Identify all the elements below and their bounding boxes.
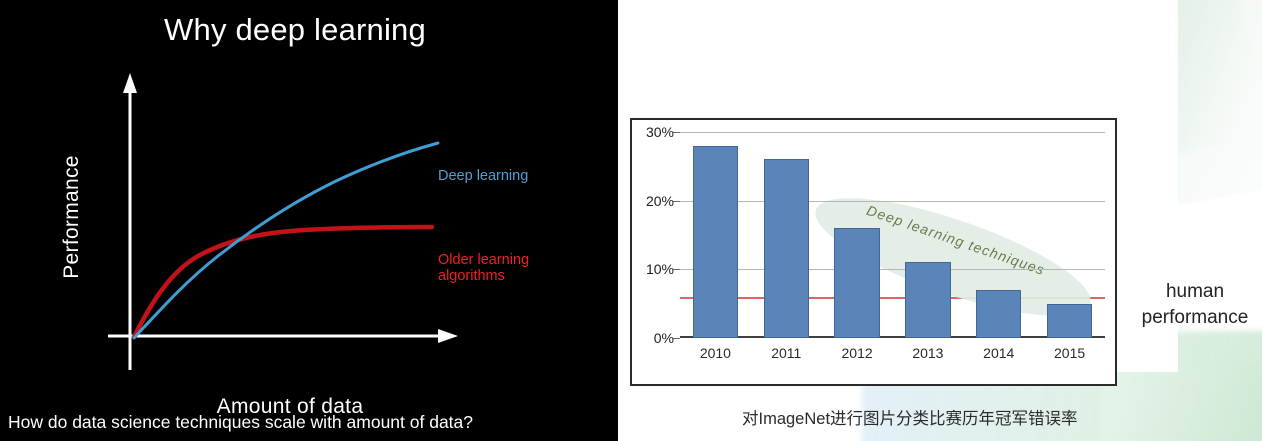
bar-2015: [1047, 304, 1092, 338]
bar-2012: [834, 228, 879, 338]
y-tick-mark: [673, 269, 680, 270]
imagenet-error-rate-bar-chart: Deep learning techniques 0%10%20%30%2010…: [630, 118, 1117, 386]
y-tick-mark: [673, 201, 680, 202]
bar-2013: [905, 262, 950, 338]
bar-2010: [693, 146, 738, 338]
right-content-panel: Deep learning techniques 0%10%20%30%2010…: [618, 0, 1262, 441]
x-axis-arrowhead: [438, 329, 458, 343]
gridline: [680, 269, 1105, 270]
bar-2011: [764, 159, 809, 338]
y-tick-mark: [673, 338, 680, 339]
x-tick-label-2015: 2015: [1054, 345, 1085, 361]
x-tick-label-2012: 2012: [842, 345, 873, 361]
slide-caption: How do data science techniques scale wit…: [8, 412, 473, 433]
y-tick-label: 30%: [646, 124, 674, 140]
chart-caption-chinese: 对ImageNet进行图片分类比赛历年冠军错误率: [742, 405, 1078, 429]
x-tick-label-2014: 2014: [983, 345, 1014, 361]
deep-learning-series-label: Deep learning: [438, 169, 528, 184]
y-tick-label: 10%: [646, 261, 674, 277]
human-performance-label: human performance: [1128, 279, 1262, 331]
left-slide-panel: Why deep learning Performance Amount of …: [0, 0, 618, 441]
human-performance-label-line2: performance: [1128, 305, 1262, 331]
bar-chart-plot-area: Deep learning techniques 0%10%20%30%2010…: [680, 132, 1105, 338]
y-tick-label: 20%: [646, 193, 674, 209]
y-tick-label: 0%: [654, 330, 674, 346]
x-tick-label-2013: 2013: [912, 345, 943, 361]
gridline: [680, 132, 1105, 133]
y-tick-mark: [673, 132, 680, 133]
page-title: Why deep learning: [0, 12, 590, 48]
deep-learning-curve: [134, 143, 438, 338]
y-axis-label: Performance: [60, 127, 84, 307]
line-chart-svg: [0, 55, 618, 385]
x-axis-baseline: [680, 336, 1105, 338]
older-learning-label-line1: Older learning: [438, 253, 529, 269]
older-learning-curve: [134, 227, 432, 337]
older-learning-label-line2: algorithms: [438, 269, 529, 285]
older-learning-series-label: Older learning algorithms: [438, 253, 529, 284]
performance-vs-data-line-chart: Performance Amount of data Deep learning…: [0, 55, 618, 385]
x-tick-label-2010: 2010: [700, 345, 731, 361]
y-axis-arrowhead: [123, 73, 137, 93]
gridline: [680, 201, 1105, 202]
decorative-watermark-bottom-secondary: [1102, 367, 1262, 441]
x-tick-label-2011: 2011: [771, 345, 801, 361]
human-performance-label-line1: human: [1128, 279, 1262, 305]
bar-2014: [976, 290, 1021, 338]
